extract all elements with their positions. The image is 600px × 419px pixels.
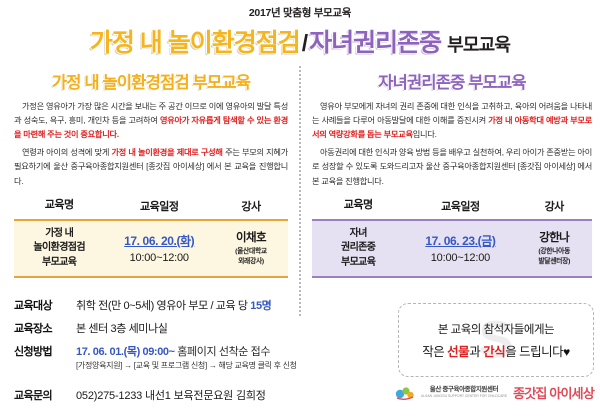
center-name-en: ULSAN JUNGGU SUPPORT CENTER FOR CHILDCAR… [421, 395, 507, 398]
left-tutor-affiliation: (울산대학교외래강사) [215, 247, 287, 267]
center-name-kr: 울산 중구육아종합지원센터 [430, 387, 498, 394]
apply-path-steps: [가정양육지원] → [교육 및 프로그램 신청] → 해당 교육명 클릭 후 … [76, 360, 297, 371]
right-course-tutor: 강한나 (강한나아동발달센터장) [516, 220, 592, 278]
poster-header: 2017년 맞춤형 부모교육 가정 내 놀이환경점검/자녀권리존중 부모교육 [0, 0, 600, 59]
right-course-name: 자녀권리존중부모교육 [312, 220, 404, 278]
left-tutor-name: 이채호 [215, 229, 287, 245]
right-col-header-tutor: 강사 [516, 195, 592, 220]
left-course-tutor: 이채호 (울산대학교외래강사) [214, 220, 288, 278]
brand-logo-text: 종갓집 아이세상 [513, 383, 594, 402]
right-paragraph-2: 아동권리에 대한 인식과 양육 방법 등을 배우고 실천하여, 우리 아이가 존… [312, 146, 592, 188]
footer-logos: 울산 중구육아종합지원센터 ULSAN JUNGGU SUPPORT CENTE… [395, 383, 594, 402]
left-schedule-table: 교육명 교육일정 강사 가정 내놀이환경점검부모교육 17. 06. 20.(화… [14, 195, 288, 279]
gift-note-line-2: 작은 선물과 간식을 드립니다♥ [422, 341, 570, 360]
gift-keyword-snack: 간식 [483, 345, 505, 359]
left-table-header-row: 교육명 교육일정 강사 [14, 195, 288, 220]
gift-text-mid: 과 [469, 345, 483, 359]
right-table-body: 자녀권리존중부모교육 17. 06. 23.(금) 10:00~12:00 강한… [312, 220, 592, 278]
right-col-header-course: 교육명 [312, 195, 404, 220]
right-section-title: 자녀권리존중 부모교육 [312, 69, 592, 93]
left-paragraph-2: 연령과 아이의 성격에 맞게 가정 내 놀이환경을 제대로 구성해 주는 부모의… [14, 146, 288, 188]
info-target-capacity: 15명 [250, 300, 271, 312]
left-course-date[interactable]: 17. 06. 20.(화) [105, 232, 213, 249]
left-column: 가정 내 놀이환경점검 부모교육 가정은 영유아가 가장 많은 시간을 보내는 … [0, 67, 300, 295]
right-tutor-affiliation: (강한나아동발달센터장) [517, 247, 591, 267]
right-column: 자녀권리존중 부모교육 영유아 부모에게 자녀의 권리 존중에 대한 인식을 고… [300, 67, 600, 295]
heart-icon: ♥ [563, 345, 570, 359]
contact-row: 교육문의 052)275-1233 내선1 보육전문요원 김희정 [14, 387, 266, 403]
title-part-play-environment: 가정 내 놀이환경점검 [90, 29, 300, 57]
right-course-schedule: 17. 06. 23.(금) 10:00~12:00 [404, 220, 516, 278]
left-paragraph-1: 가정은 영유아가 가장 많은 시간을 보내는 주 공간 이므로 이에 영유아의 … [14, 100, 288, 142]
info-label-target: 교육대상 [14, 297, 76, 313]
left-table-body: 가정 내놀이환경점검부모교육 17. 06. 20.(화) 10:00~12:0… [14, 220, 288, 278]
left-table-head: 교육명 교육일정 강사 [14, 195, 288, 220]
right-col-header-schedule: 교육일정 [404, 195, 516, 220]
poster-kicker: 2017년 맞춤형 부모교육 [0, 5, 600, 20]
left-col-header-tutor: 강사 [214, 195, 288, 220]
title-slash: / [300, 30, 309, 56]
info-target-text: 취학 전(만 0~5세) 영유아 부모 / 교육 당 [76, 300, 250, 312]
left-course-name: 가정 내놀이환경점검부모교육 [14, 220, 104, 278]
info-area: 교육대상 취학 전(만 0~5세) 영유아 부모 / 교육 당 15명 교육장소… [0, 297, 600, 371]
right-table-head: 교육명 교육일정 강사 [312, 195, 592, 220]
apply-method-text: 홈페이지 선착순 접수 [175, 346, 270, 358]
body-text-segment: 아동권리에 대한 인식과 양육 방법 등을 배우고 실천하여, 우리 아이가 존… [312, 148, 592, 185]
title-part-parent-education: 부모교육 [447, 35, 510, 55]
highlighted-text: 가정 내 놀이환경을 제대로 구성해 [111, 148, 222, 157]
right-tutor-name: 강한나 [517, 229, 591, 245]
gift-text-pre: 작은 [422, 345, 447, 359]
left-col-header-schedule: 교육일정 [104, 195, 214, 220]
title-part-child-rights: 자녀권리존중 [309, 29, 441, 57]
center-name-block: 울산 중구육아종합지원센터 ULSAN JUNGGU SUPPORT CENTE… [421, 387, 507, 399]
info-label-apply: 신청방법 [14, 343, 76, 359]
right-course-date[interactable]: 17. 06. 23.(금) [405, 232, 515, 249]
right-schedule-table: 교육명 교육일정 강사 자녀권리존중부모교육 17. 06. 23.(금) 10… [312, 195, 592, 279]
info-value-place: 본 센터 3층 세미나실 [76, 320, 167, 336]
center-logo-icon [395, 385, 415, 401]
gift-note-line-1: 본 교육의 참석자들에게는 [438, 321, 554, 337]
right-body-text: 영유아 부모에게 자녀의 권리 존중에 대한 인식을 고취하고, 육아의 어려움… [312, 100, 592, 189]
column-divider [299, 66, 301, 316]
table-row: 가정 내놀이환경점검부모교육 17. 06. 20.(화) 10:00~12:0… [14, 220, 288, 278]
info-value-target: 취학 전(만 0~5세) 영유아 부모 / 교육 당 15명 [76, 297, 271, 313]
apply-main-line: 17. 06. 01.(목) 09:00~ 홈페이지 선착순 접수 [76, 343, 297, 359]
contact-label: 교육문의 [14, 387, 76, 403]
contact-value: 052)275-1233 내선1 보육전문요원 김희정 [76, 387, 266, 403]
body-text-segment: 입니다. [413, 130, 437, 139]
left-course-time: 10:00~12:00 [105, 252, 213, 264]
right-paragraph-1: 영유아 부모에게 자녀의 권리 존중에 대한 인식을 고취하고, 육아의 어려움… [312, 100, 592, 142]
info-value-apply: 17. 06. 01.(목) 09:00~ 홈페이지 선착순 접수 [가정양육지… [76, 343, 297, 371]
gift-note-box: S 본 교육의 참석자들에게는 작은 선물과 간식을 드립니다♥ [398, 303, 594, 377]
poster-footer: 교육문의 052)275-1233 내선1 보육전문요원 김희정 울산 중구육아… [0, 381, 600, 415]
right-course-time: 10:00~12:00 [405, 252, 515, 264]
right-table-header-row: 교육명 교육일정 강사 [312, 195, 592, 220]
poster-main-title: 가정 내 놀이환경점검/자녀권리존중 부모교육 [0, 23, 600, 59]
left-section-title: 가정 내 놀이환경점검 부모교육 [14, 69, 288, 93]
left-col-header-course: 교육명 [14, 195, 104, 220]
gift-text-post: 을 드립니다 [505, 345, 563, 359]
left-course-schedule: 17. 06. 20.(화) 10:00~12:00 [104, 220, 214, 278]
left-body-text: 가정은 영유아가 가장 많은 시간을 보내는 주 공간 이므로 이에 영유아의 … [14, 100, 288, 189]
body-text-segment: 연령과 아이의 성격에 맞게 [22, 148, 111, 157]
apply-open-date: 17. 06. 01.(목) 09:00~ [76, 346, 175, 358]
gift-keyword-present: 선물 [447, 345, 469, 359]
info-label-place: 교육장소 [14, 320, 76, 336]
table-row: 자녀권리존중부모교육 17. 06. 23.(금) 10:00~12:00 강한… [312, 220, 592, 278]
columns-wrapper: 가정 내 놀이환경점검 부모교육 가정은 영유아가 가장 많은 시간을 보내는 … [0, 67, 600, 295]
